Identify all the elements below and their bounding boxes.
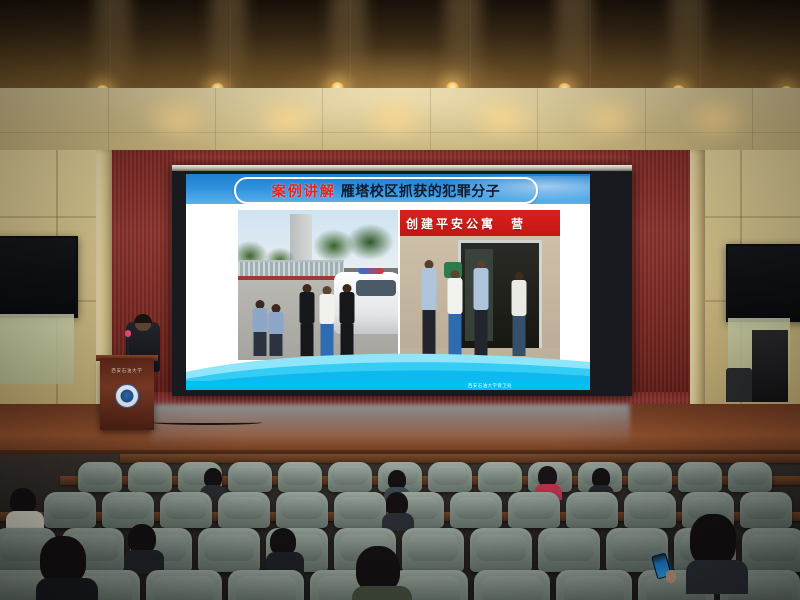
seat: [678, 462, 722, 492]
projection-screen-top-rail: [172, 165, 632, 171]
stage-side-chair: [726, 368, 752, 402]
audience-member: [386, 492, 408, 526]
seat: [566, 492, 618, 528]
seat: [328, 462, 372, 492]
auditorium-photo-scene: 案例讲解 雁塔校区抓获的犯罪分子: [0, 0, 800, 600]
slide-photo-right: 创建平安公寓 营: [400, 210, 560, 360]
seat: [742, 528, 800, 572]
seat: [624, 492, 676, 528]
audience-member: [10, 488, 36, 528]
seat: [276, 492, 328, 528]
presentation-slide: 案例讲解 雁塔校区抓获的犯罪分子: [186, 174, 590, 390]
seat: [334, 492, 386, 528]
seat: [160, 492, 212, 528]
wall-light-pool: [250, 92, 324, 144]
audience-member: [128, 524, 156, 570]
seat: [146, 570, 222, 600]
side-display-left: [0, 236, 78, 318]
seat: [628, 462, 672, 492]
seat: [78, 462, 122, 492]
seat: [478, 462, 522, 492]
seat: [228, 462, 272, 492]
seat: [538, 528, 600, 572]
seat: [128, 462, 172, 492]
seat: [470, 528, 532, 572]
side-display-right: [726, 244, 800, 322]
photo-figure-suspect: [446, 270, 464, 356]
wall-light-pool: [680, 92, 754, 144]
floor-speaker-cabinet: [752, 330, 788, 402]
seat: [428, 462, 472, 492]
photo-figure-officer: [472, 260, 490, 356]
seat: [740, 492, 792, 528]
slide-photo-banner: 创建平安公寓 营: [400, 210, 560, 236]
seat: [198, 528, 260, 572]
seat: [228, 570, 304, 600]
slide-footer: 西安石油大学保卫处: [186, 381, 590, 390]
university-crest-icon: [115, 384, 139, 408]
audience-seating-area: [0, 454, 800, 600]
podium-institution-text: 西安石油大学: [100, 368, 154, 374]
seat: [474, 570, 550, 600]
slide-title-pill: 案例讲解 雁塔校区抓获的犯罪分子: [234, 177, 538, 204]
ceiling: [0, 0, 800, 92]
audience-member: [270, 528, 296, 572]
photo-figure-suspect: [510, 272, 528, 356]
projection-screen: 案例讲解 雁塔校区抓获的犯罪分子: [186, 174, 590, 390]
slide-title-red: 案例讲解: [272, 181, 336, 201]
stage-floor-reflection: [150, 404, 630, 448]
wall-light-pool: [572, 92, 646, 144]
audience-member-foreground: [40, 536, 86, 600]
seat: [508, 492, 560, 528]
audience-member: [204, 468, 222, 494]
stone-pilaster-right: [688, 150, 705, 420]
seat: [278, 462, 322, 492]
seat: [450, 492, 502, 528]
seat: [102, 492, 154, 528]
slide-footer-text: 西安石油大学保卫处: [468, 383, 590, 389]
audience-hand: [666, 570, 676, 583]
seat: [44, 492, 96, 528]
floor-cable: [152, 420, 262, 425]
seat: [218, 492, 270, 528]
wall-light-pool: [358, 92, 432, 144]
slide-photo-left: [238, 210, 398, 360]
slide-title-main: 雁塔校区抓获的犯罪分子: [341, 181, 501, 201]
photo-figure-officer: [420, 260, 438, 356]
lower-wall-panel-left: [0, 314, 74, 384]
seat: [402, 528, 464, 572]
wall-light-pool: [140, 92, 214, 144]
screen-wood-frame-right: [630, 150, 690, 420]
slide-body: 创建平安公寓 营: [186, 204, 590, 364]
audience-member-foreground: [356, 546, 400, 600]
wall-light-pool: [466, 92, 540, 144]
slide-photo-banner-text: 创建平安公寓 营: [400, 215, 526, 232]
audience-member-foreground: [690, 514, 736, 584]
seat: [728, 462, 772, 492]
podium: 西安石油大学: [100, 358, 154, 430]
seat: [556, 570, 632, 600]
